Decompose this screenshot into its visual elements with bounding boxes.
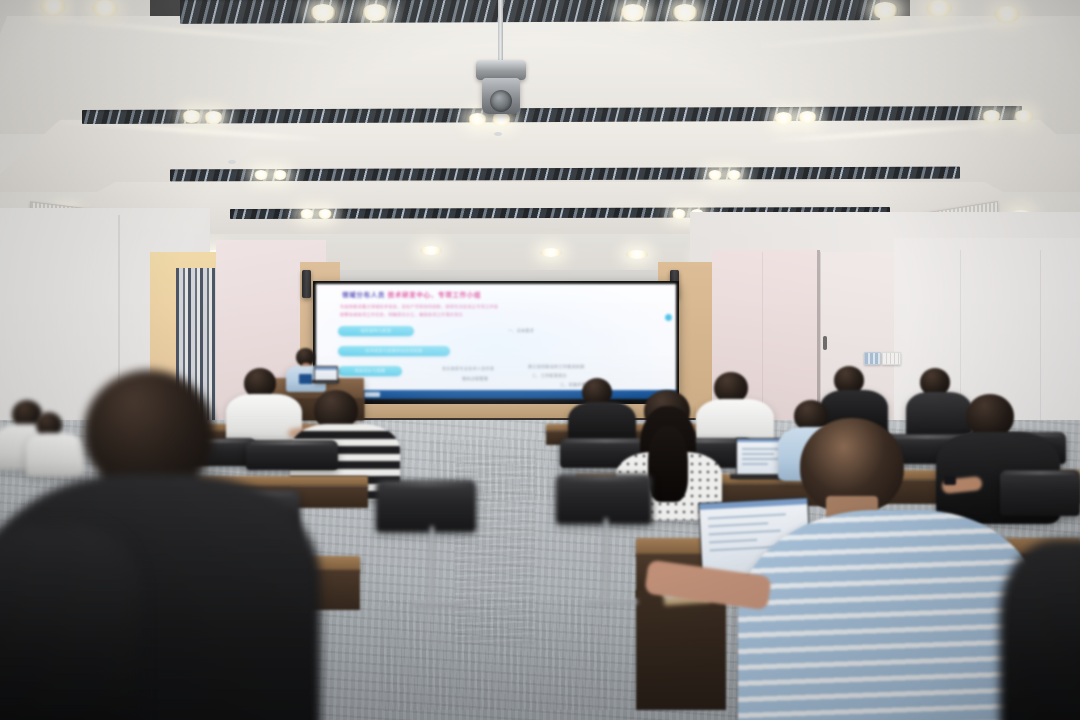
desk-side-panel [636,590,726,710]
laptop-content-line [742,463,768,465]
wall-speaker [302,270,311,298]
wristwatch [944,476,956,485]
linear-light-slot [180,0,880,24]
slide-title-accent: 技术研发中心、专项工作小组 [388,292,481,299]
light-switch-plate[interactable] [864,352,881,365]
chair-highlight [250,441,334,445]
laptop-content-line [710,546,776,551]
ceiling-sprinkler [494,132,502,136]
recessed-downlight [727,170,741,180]
ceiling-sprinkler [228,160,236,164]
conference-chair[interactable] [1000,470,1080,516]
recessed-downlight [672,209,686,219]
laptop-content-line [709,530,781,535]
slide-chip-label: 技术研发与成果转化应用机制 [338,346,450,356]
laptop-content-line [709,539,757,543]
conference-chair[interactable] [376,480,476,532]
slide-title-main: 领域分布人员 [342,292,385,299]
chair-highlight [1004,471,1076,475]
conference-room-photo: 领域分布人员 技术研发中心、专项工作小组 为加快推进重点领域技术攻关，深化产学研… [0,0,1080,720]
recessed-downlight [468,113,487,126]
recessed-downlight [982,110,1001,123]
taskbar-app-item[interactable] [364,392,380,397]
attendee-torso [1000,540,1080,720]
slide-subtitle-line-1: 为加快推进重点领域技术攻关，深化产学研协同创新，经研究决定成立专项工作组 [340,304,498,310]
chair-highlight [564,439,648,443]
slide-chip: 技术研发与成果转化应用机制 [338,346,450,356]
attendee-torso [26,433,84,477]
recessed-downlight [300,209,314,219]
laptop-content-line [742,448,782,450]
power-outlet-plate[interactable] [882,352,901,365]
attendee-hair-front [648,426,688,502]
slide-chip: 组织架构与职责 [338,326,414,336]
slide-body-text: 一、总体要求 [508,328,534,334]
recessed-downlight [620,4,646,21]
recessed-downlight [774,112,793,125]
recessed-downlight [182,110,201,123]
laptop-content-line [742,453,774,455]
laptop-content-line [708,513,786,519]
chair-leg [430,526,434,608]
recessed-downlight [492,113,511,126]
recessed-downlight [708,170,722,180]
recessed-downlight [254,170,268,180]
chair-leg [604,518,608,606]
slide-chip-label: 考核评价与保障 [338,366,402,376]
slide-chip-label: 组织架构与职责 [338,326,414,336]
recessed-downlight [994,6,1020,23]
recessed-downlight [872,2,898,19]
chair-foot [586,600,638,604]
attendee-torso [738,510,1038,720]
attendee-torso [0,524,140,720]
recessed-downlight [926,0,952,17]
recessed-downlight [40,0,66,15]
conference-chair[interactable] [246,440,338,470]
recessed-downlight [672,4,698,21]
slide-body-text: 充分发挥专业技术人员作用 [442,366,494,372]
slide-body-text: 强化过程管理 [462,376,488,382]
chair-foot [412,602,464,606]
recessed-downlight [310,4,336,21]
slide-title: 领域分布人员 技术研发中心、专项工作小组 [342,290,481,299]
slide-marker-dot [665,314,672,321]
recessed-downlight [204,111,223,124]
recessed-downlight [362,4,388,21]
windows-taskbar[interactable] [316,390,676,399]
slide-body-text: 二、工作职责划分 [532,373,567,379]
recessed-downlight [1014,110,1033,123]
chair-highlight [382,482,470,486]
projector-mount-pole [498,0,503,62]
recessed-downlight [273,170,287,180]
projector-lens-icon [490,90,512,112]
laptop-content-line [708,522,768,527]
recessed-downlight [420,246,442,255]
chair-highlight [562,476,646,480]
door-handle[interactable] [823,336,827,350]
laptop-base [311,380,339,383]
carpet-tile [380,600,610,710]
recessed-downlight [626,250,648,259]
presenter-lanyard-badge [299,374,312,384]
projection-screen: 领域分布人员 技术研发中心、专项工作小组 为加快推进重点领域技术攻关，深化产学研… [316,284,676,399]
recessed-downlight [92,0,118,17]
slide-subtitle-line-2: 统筹协调各项工作任务，明确责任分工，确保各项工作落实到位 [340,312,463,318]
projector-mount-bracket [476,60,526,80]
laptop-content-line [742,458,780,460]
slide-body-text: 建立协同联动的工作推进机制 [528,364,585,370]
recessed-downlight [540,248,562,257]
conference-chair[interactable] [556,474,652,524]
recessed-downlight [798,111,817,124]
laptop-titlebar [315,367,337,370]
slide-chip: 考核评价与保障 [338,366,402,376]
recessed-downlight [318,209,332,219]
